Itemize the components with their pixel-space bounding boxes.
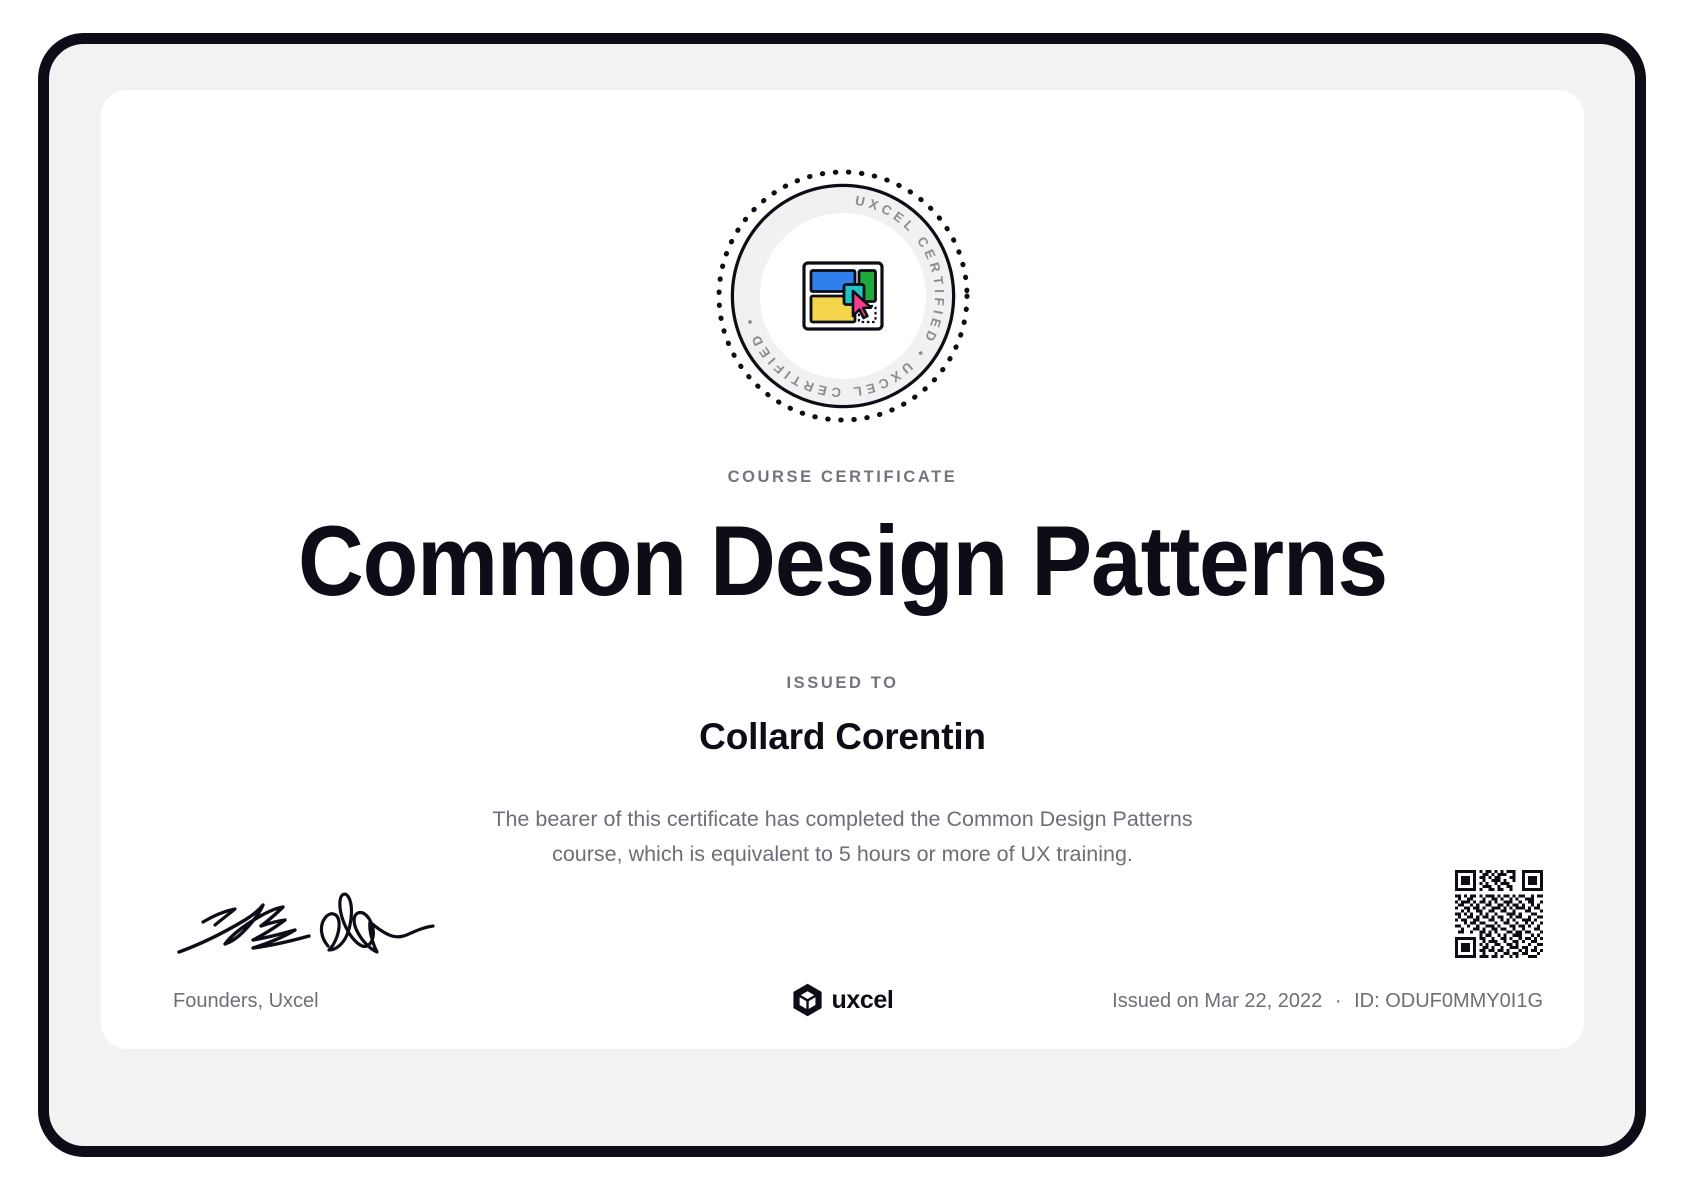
wireframe-layout-icon [804, 263, 882, 329]
issue-date: Issued on Mar 22, 2022 [1112, 990, 1322, 1012]
seal-graphic: UXCEL CERTIFIED • UXCEL CERTIFIED • [713, 166, 973, 426]
uxcel-brand: uxcel [792, 983, 894, 1017]
signature-caption: Founders, Uxcel [173, 990, 319, 1013]
meta-separator: · [1328, 990, 1349, 1012]
recipient-name: Collard Corentin [101, 716, 1584, 758]
qr-graphic [1455, 870, 1543, 958]
founder-signatures [173, 880, 473, 970]
certificate-description: The bearer of this certificate has compl… [463, 802, 1223, 872]
certificate-card: UXCEL CERTIFIED • UXCEL CERTIFIED • COUR… [101, 90, 1584, 1049]
signature-graphic [173, 880, 473, 970]
certification-seal: UXCEL CERTIFIED • UXCEL CERTIFIED • [713, 166, 973, 426]
issue-metadata: Issued on Mar 22, 2022 · ID: ODUF0MMY0I1… [1112, 990, 1543, 1013]
certificate-id: ID: ODUF0MMY0I1G [1354, 990, 1543, 1012]
uxcel-cube-logo [792, 983, 823, 1017]
verification-qr-code[interactable] [1455, 870, 1543, 958]
certificate-frame: UXCEL CERTIFIED • UXCEL CERTIFIED • COUR… [38, 33, 1646, 1157]
course-title: Common Design Patterns [160, 508, 1524, 615]
issued-to-label: ISSUED TO [101, 674, 1584, 693]
uxcel-wordmark: uxcel [832, 986, 894, 1015]
eyebrow-label: COURSE CERTIFICATE [101, 468, 1584, 487]
